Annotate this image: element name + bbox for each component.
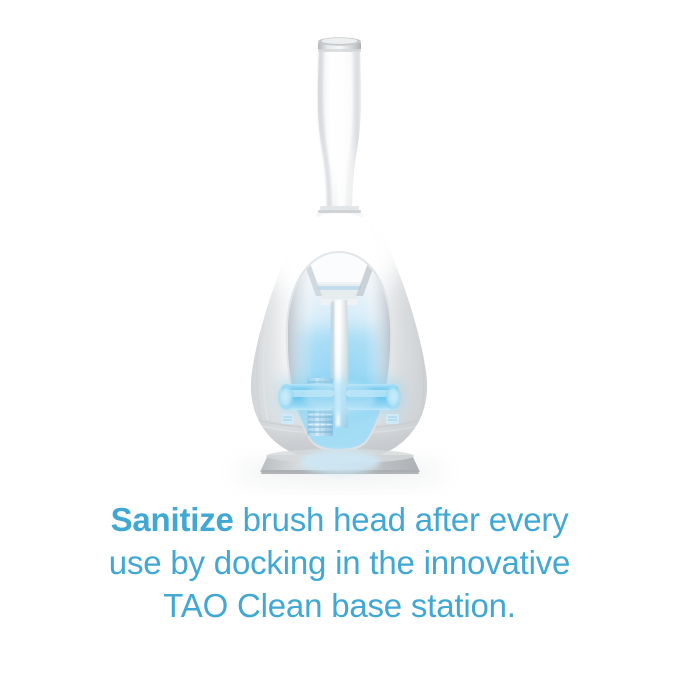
product-illustration bbox=[0, 0, 679, 495]
uv-center-bloom bbox=[304, 382, 376, 414]
foot-glow-spill bbox=[300, 450, 380, 474]
caption-lead-word: Sanitize bbox=[111, 501, 234, 538]
product-caption: Sanitize brush head after every use by d… bbox=[0, 498, 679, 627]
caption-line-3: TAO Clean base station. bbox=[0, 584, 679, 627]
base-foot bbox=[260, 449, 420, 474]
caption-line-2: use by docking in the innovative bbox=[0, 541, 679, 584]
caption-line-1: Sanitize brush head after every bbox=[0, 498, 679, 541]
handle-top-cap bbox=[318, 37, 361, 52]
product-promo-card: Sanitize brush head after every use by d… bbox=[0, 0, 679, 679]
product-image bbox=[0, 0, 679, 495]
caption-line-1-rest: brush head after every bbox=[234, 501, 569, 538]
